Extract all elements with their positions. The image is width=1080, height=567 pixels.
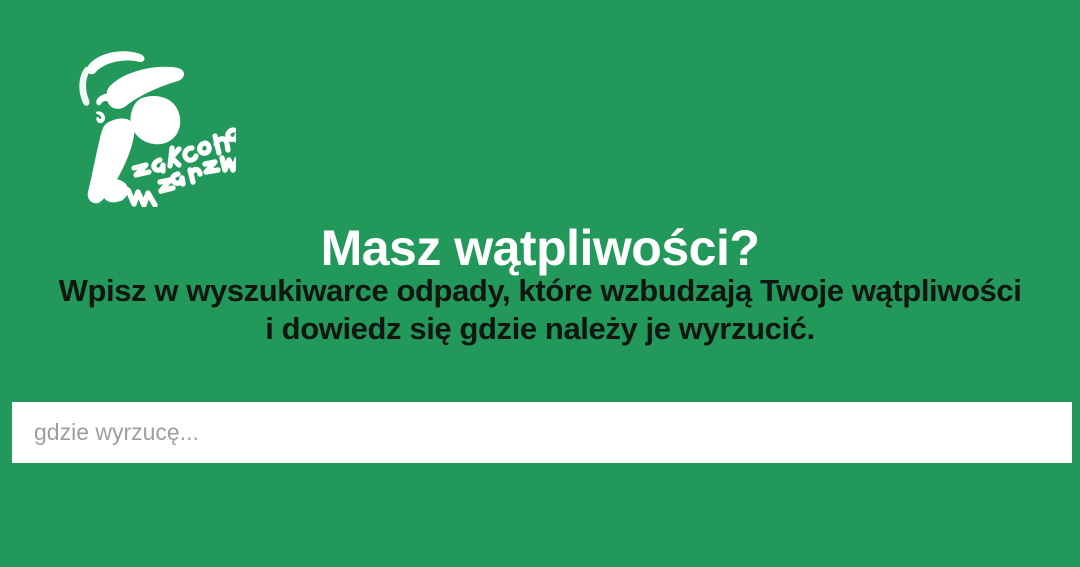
search-bar[interactable] — [12, 402, 1072, 463]
logo-script-line-2 — [110, 158, 236, 205]
page-subtitle: Wpisz w wyszukiwarce odpady, które wzbud… — [0, 272, 1080, 348]
search-input[interactable] — [12, 402, 1072, 463]
mermaid-logo-icon — [74, 42, 236, 207]
subtitle-line-1: Wpisz w wyszukiwarce odpady, które wzbud… — [0, 272, 1080, 310]
subtitle-line-2: i dowiedz się gdzie należy je wyrzucić. — [0, 310, 1080, 348]
hero-banner: Masz wątpliwości? Wpisz w wyszukiwarce o… — [0, 0, 1080, 567]
page-title: Masz wątpliwości? — [0, 220, 1080, 276]
zakochaj-sie-w-warszawie-logo[interactable] — [74, 42, 236, 207]
